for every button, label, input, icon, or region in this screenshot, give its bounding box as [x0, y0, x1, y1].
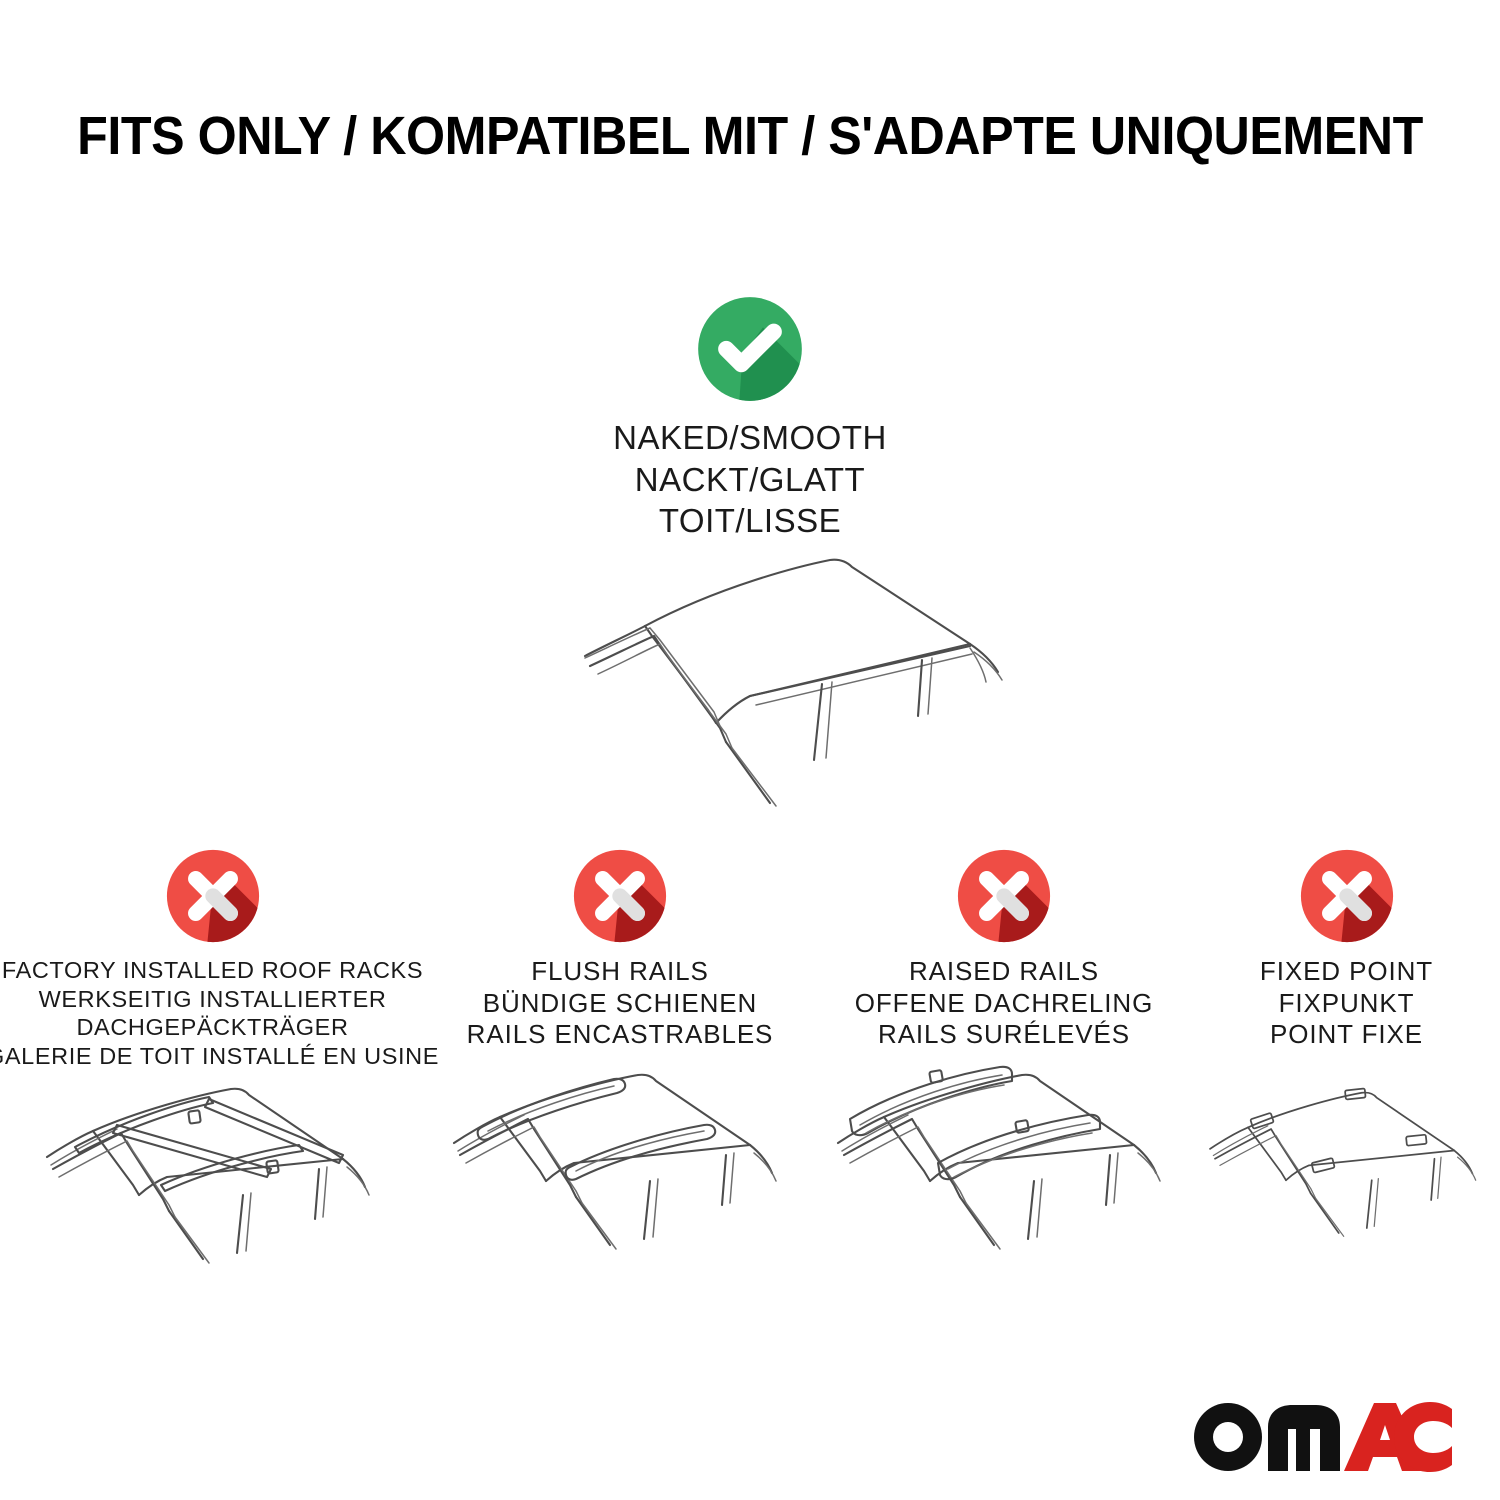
label-fr: POINT FIXE [1260, 1019, 1433, 1051]
red-x-icon [956, 848, 1052, 944]
incompatible-labels: FIXED POINT FIXPUNKT POINT FIXE [1260, 956, 1433, 1051]
label-de-1: WERKSEITIG INSTALLIERTER [0, 985, 439, 1014]
red-x-icon [165, 848, 261, 944]
page-title: FITS ONLY / KOMPATIBEL MIT / S'ADAPTE UN… [53, 108, 1448, 165]
incompatible-item-factory-roof-racks: FACTORY INSTALLED ROOF RACKS WERKSEITIG … [0, 848, 425, 1308]
fixed-point-illustration [1182, 1059, 1500, 1294]
omac-logo [1192, 1398, 1452, 1476]
incompatible-item-fixed-point: FIXED POINT FIXPUNKT POINT FIXE [1193, 848, 1500, 1294]
red-x-icon [572, 848, 668, 944]
label-en: FLUSH RAILS [467, 956, 774, 988]
flush-rails-illustration [420, 1059, 820, 1294]
incompatible-labels: FLUSH RAILS BÜNDIGE SCHIENEN RAILS ENCAS… [467, 956, 774, 1051]
label-de-2: DACHGEPÄCKTRÄGER [0, 1013, 439, 1042]
label-fr: TOIT/LISSE [613, 500, 887, 542]
raised-rails-illustration [804, 1059, 1204, 1294]
incompatible-labels: RAISED RAILS OFFENE DACHRELING RAILS SUR… [855, 956, 1153, 1051]
label-de: OFFENE DACHRELING [855, 988, 1153, 1020]
green-check-icon [696, 295, 804, 403]
factory-roof-rack-illustration [13, 1073, 413, 1308]
red-x-icon [1299, 848, 1395, 944]
label-en: RAISED RAILS [855, 956, 1153, 988]
incompatible-item-flush-rails: FLUSH RAILS BÜNDIGE SCHIENEN RAILS ENCAS… [425, 848, 815, 1294]
compatible-labels: NAKED/SMOOTH NACKT/GLATT TOIT/LISSE [613, 417, 887, 542]
incompatible-section: FACTORY INSTALLED ROOF RACKS WERKSEITIG … [0, 848, 1500, 1308]
label-de: BÜNDIGE SCHIENEN [467, 988, 774, 1020]
naked-smooth-roof-illustration [470, 548, 1030, 828]
incompatible-labels: FACTORY INSTALLED ROOF RACKS WERKSEITIG … [0, 956, 439, 1071]
label-de: NACKT/GLATT [613, 459, 887, 501]
label-fr: RAILS ENCASTRABLES [467, 1019, 774, 1051]
compatible-section: NAKED/SMOOTH NACKT/GLATT TOIT/LISSE [0, 295, 1500, 828]
label-fr: RAILS SURÉLEVÉS [855, 1019, 1153, 1051]
label-en: NAKED/SMOOTH [613, 417, 887, 459]
logo-letter-o [1194, 1403, 1262, 1471]
logo-letter-m [1268, 1405, 1340, 1471]
label-en: FIXED POINT [1260, 956, 1433, 988]
label-en: FACTORY INSTALLED ROOF RACKS [0, 956, 439, 985]
label-de: FIXPUNKT [1260, 988, 1433, 1020]
incompatible-item-raised-rails: RAISED RAILS OFFENE DACHRELING RAILS SUR… [815, 848, 1193, 1294]
label-fr: GALERIE DE TOIT INSTALLÉ EN USINE [0, 1042, 439, 1071]
